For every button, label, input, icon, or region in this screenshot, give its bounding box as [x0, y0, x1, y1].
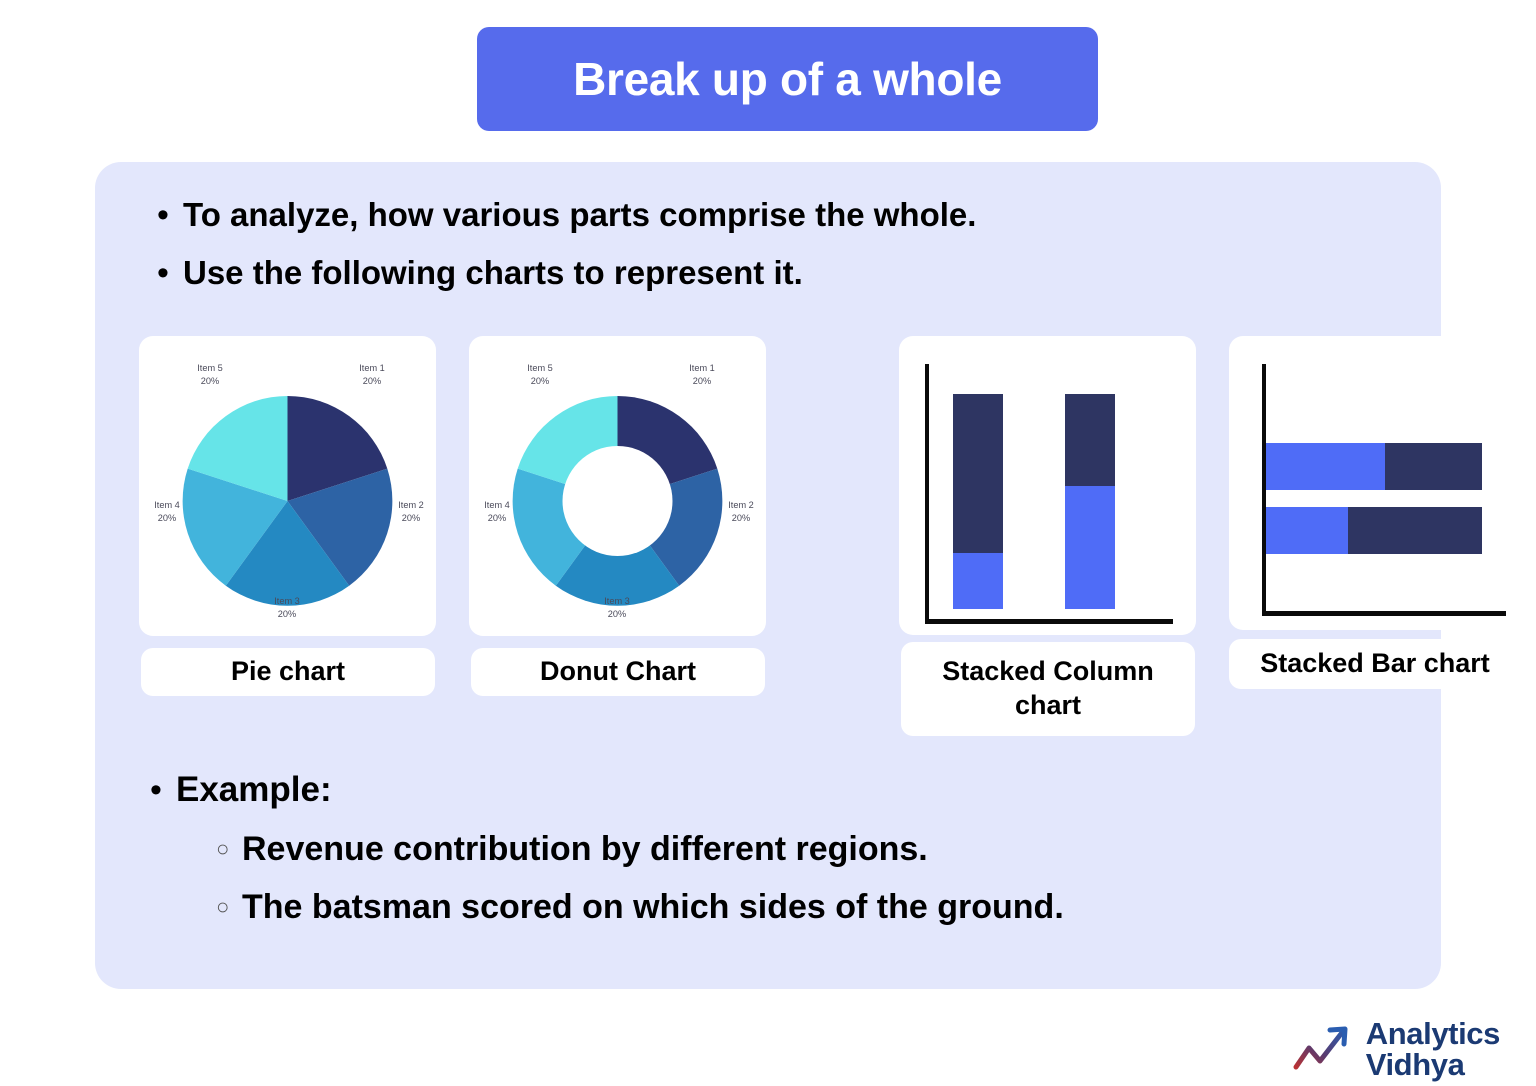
donut-label-item-3-value: 20%: [608, 609, 626, 619]
pie-label-item-4-value: 20%: [158, 513, 176, 523]
sub-bullet-marker-icon: ○: [216, 880, 242, 934]
pie-chart-svg: Item 1 20% Item 2 20% Item 3 20% Item 4 …: [139, 336, 436, 636]
donut-label-item-2-name: Item 2: [728, 500, 754, 510]
example-heading: Example:: [176, 762, 332, 818]
example-section: • Example: ○ Revenue contribution by dif…: [150, 762, 1400, 934]
chart-caption-text: Stacked Bar chart: [1260, 647, 1490, 681]
stacked-bar-2-segment-series-1: [1266, 507, 1348, 554]
stacked-column-plot: [899, 336, 1196, 635]
y-axis-line: [925, 364, 929, 622]
chart-slot-stacked-bar: Stacked Bar chart: [1229, 336, 1521, 630]
bullet-text: Use the following charts to represent it…: [183, 248, 803, 298]
bullet-text: To analyze, how various parts comprise t…: [183, 190, 976, 240]
donut-chart-card: Item 1 20% Item 2 20% Item 3 20% Item 4 …: [469, 336, 766, 636]
logo-wordmark: Analytics Vidhya: [1366, 1019, 1500, 1080]
pie-label-item-5-value: 20%: [201, 376, 219, 386]
pie-label-item-1-name: Item 1: [359, 363, 385, 373]
pie-label-item-1-value: 20%: [363, 376, 381, 386]
donut-label-item-4-name: Item 4: [484, 500, 510, 510]
chart-caption-stacked-bar: Stacked Bar chart: [1229, 639, 1521, 689]
x-axis-line: [925, 619, 1173, 624]
pie-label-item-2-value: 20%: [402, 513, 420, 523]
list-item: ○ Revenue contribution by different regi…: [216, 822, 1400, 876]
pie-chart-card: Item 1 20% Item 2 20% Item 3 20% Item 4 …: [139, 336, 436, 636]
chart-slot-pie: Item 1 20% Item 2 20% Item 3 20% Item 4 …: [139, 336, 436, 636]
sub-bullet-marker-icon: ○: [216, 822, 242, 876]
chart-caption-text: Stacked Column chart: [911, 655, 1185, 723]
stacked-column-1-segment-series-1: [953, 553, 1003, 609]
donut-slices: [513, 396, 723, 606]
donut-label-item-2-value: 20%: [732, 513, 750, 523]
example-heading-row: • Example:: [150, 762, 1400, 818]
chart-caption-text: Pie chart: [231, 655, 345, 689]
stacked-column-1-segment-series-2: [953, 394, 1003, 553]
intro-bullet-list: • To analyze, how various parts comprise…: [157, 190, 1357, 306]
content-panel: • To analyze, how various parts comprise…: [95, 162, 1441, 989]
bullet-marker-icon: •: [157, 190, 183, 240]
donut-label-item-5-value: 20%: [531, 376, 549, 386]
pie-label-item-5-name: Item 5: [197, 363, 223, 373]
stacked-column-2: [1065, 394, 1115, 609]
chart-caption-donut: Donut Chart: [471, 648, 765, 696]
chart-slot-donut: Item 1 20% Item 2 20% Item 3 20% Item 4 …: [469, 336, 766, 636]
list-item: • Use the following charts to represent …: [157, 248, 1357, 298]
chart-gallery: Item 1 20% Item 2 20% Item 3 20% Item 4 …: [139, 336, 1439, 756]
slide: Break up of a whole • To analyze, how va…: [0, 0, 1536, 1086]
donut-label-item-4-value: 20%: [488, 513, 506, 523]
donut-label-item-5-name: Item 5: [527, 363, 553, 373]
stacked-bar-2: [1266, 507, 1482, 554]
example-item-text: Revenue contribution by different region…: [242, 822, 928, 876]
chart-caption-text: Donut Chart: [540, 655, 696, 689]
chart-slot-stacked-column: Stacked Column chart: [899, 336, 1196, 635]
stacked-bar-1-segment-series-2: [1385, 443, 1482, 490]
pie-label-item-4-name: Item 4: [154, 500, 180, 510]
stacked-bar-plot: [1229, 336, 1521, 630]
pie-label-item-2-name: Item 2: [398, 500, 424, 510]
logo-line-1: Analytics: [1366, 1019, 1500, 1049]
pie-slices: [183, 396, 393, 606]
slide-title-banner: Break up of a whole: [477, 27, 1098, 131]
page-title: Break up of a whole: [573, 52, 1002, 106]
list-item: ○ The batsman scored on which sides of t…: [216, 880, 1400, 934]
stacked-column-2-segment-series-1: [1065, 486, 1115, 609]
pie-label-item-3-name: Item 3: [274, 596, 300, 606]
bullet-marker-icon: •: [150, 762, 176, 818]
donut-label-item-1-value: 20%: [693, 376, 711, 386]
x-axis-line: [1262, 611, 1506, 616]
stacked-column-chart-card: [899, 336, 1196, 635]
stacked-bar-2-segment-series-2: [1348, 507, 1482, 554]
chart-caption-stacked-column: Stacked Column chart: [901, 642, 1195, 736]
donut-label-item-3-name: Item 3: [604, 596, 630, 606]
donut-chart-svg: Item 1 20% Item 2 20% Item 3 20% Item 4 …: [469, 336, 766, 636]
bullet-marker-icon: •: [157, 248, 183, 298]
stacked-bar-chart-card: [1229, 336, 1521, 630]
analytics-vidhya-logo: Analytics Vidhya: [1292, 1019, 1500, 1080]
stacked-column-1: [953, 394, 1003, 609]
stacked-bar-1: [1266, 443, 1482, 490]
donut-label-item-1-name: Item 1: [689, 363, 715, 373]
donut-hole: [563, 446, 673, 556]
stacked-bar-1-segment-series-1: [1266, 443, 1385, 490]
list-item: • To analyze, how various parts comprise…: [157, 190, 1357, 240]
growth-arrow-icon: [1292, 1020, 1358, 1080]
example-item-text: The batsman scored on which sides of the…: [242, 880, 1064, 934]
logo-line-2: Vidhya: [1366, 1050, 1500, 1080]
chart-caption-pie: Pie chart: [141, 648, 435, 696]
stacked-column-2-segment-series-2: [1065, 394, 1115, 486]
pie-label-item-3-value: 20%: [278, 609, 296, 619]
